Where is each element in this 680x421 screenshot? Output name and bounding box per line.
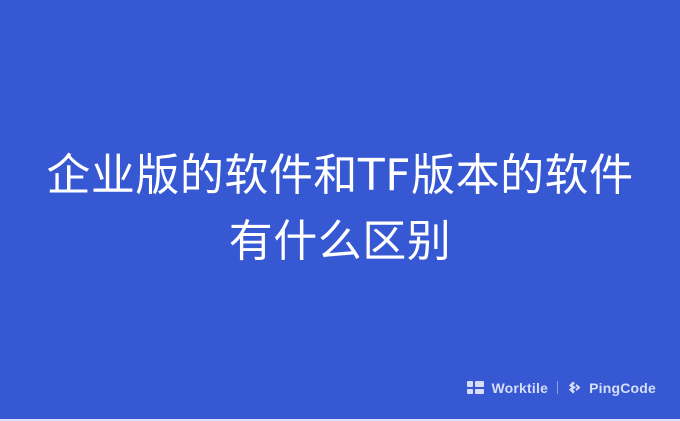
worktile-brand: Worktile bbox=[467, 381, 548, 395]
pingcode-chevron-icon bbox=[567, 380, 582, 395]
page-title-line-2: 有什么区别 bbox=[0, 209, 680, 275]
worktile-grid-icon bbox=[467, 381, 484, 394]
pingcode-label: PingCode bbox=[589, 381, 656, 395]
page-title: 企业版的软件和TF版本的软件 有什么区别 bbox=[0, 143, 680, 275]
brand-separator bbox=[557, 381, 558, 394]
pingcode-brand: PingCode bbox=[567, 380, 656, 395]
page-title-line-1: 企业版的软件和TF版本的软件 bbox=[0, 143, 680, 209]
worktile-label: Worktile bbox=[491, 381, 548, 395]
title-card: 企业版的软件和TF版本的软件 有什么区别 Worktile PingCode bbox=[0, 0, 680, 421]
branding-bar: Worktile PingCode bbox=[467, 380, 656, 395]
